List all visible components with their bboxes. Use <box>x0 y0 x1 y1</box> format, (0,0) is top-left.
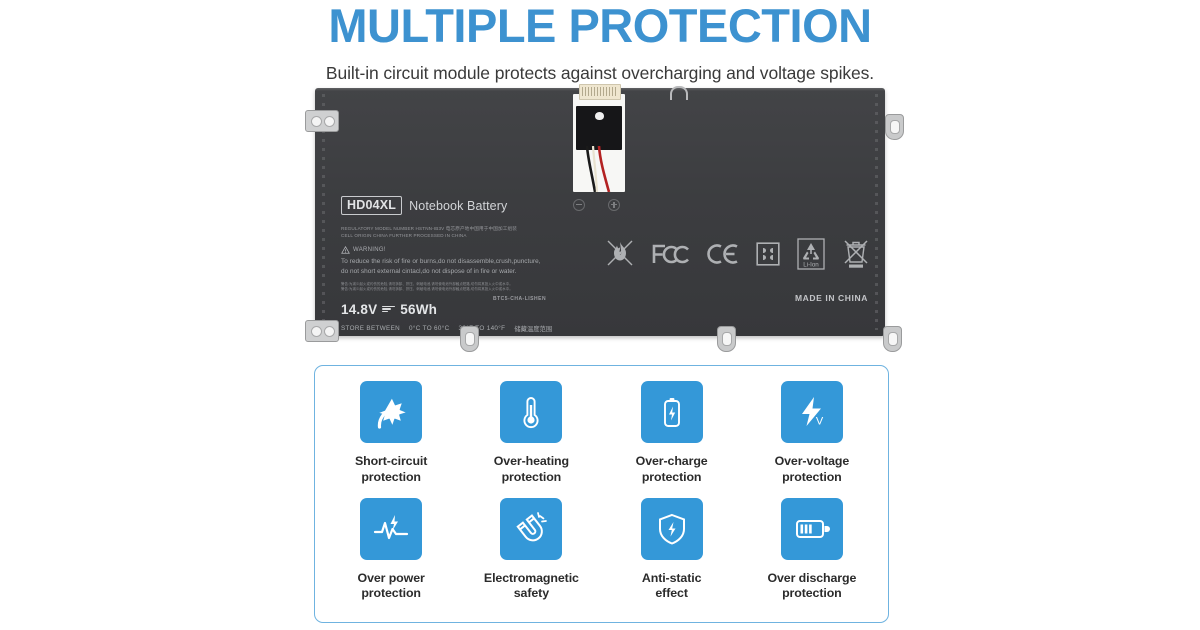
fcc-icon <box>652 242 690 266</box>
regulatory-line-2: CELL ORIGIN CHINA FURTHER PROCESSED IN C… <box>341 233 591 240</box>
battery-level-icon <box>792 510 832 548</box>
li-ion-label: Li-Ion <box>803 262 819 269</box>
regulatory-line-1: REGULATORY MODEL NUMBER HSTNN-IB3V 电芯原产地… <box>341 226 591 233</box>
battery-right-perforation <box>875 94 878 330</box>
feature-over-charge: Over-charge protection <box>602 381 742 498</box>
header: MULTIPLE PROTECTION Built-in circuit mod… <box>0 0 1200 84</box>
certification-marks: Li-Ion <box>605 238 870 270</box>
warning-chinese-block: 警告:为减少起火或灼伤的危险,请勿拆卸、挤压、刺破电池,请勿使电池外部触点短路,… <box>341 282 591 293</box>
module-wires <box>573 146 625 192</box>
protection-features-panel: Short-circuit protection Over-heating pr… <box>314 365 889 623</box>
battery-batch-code: BTC5-CHA-LISHEN <box>493 296 546 302</box>
shield-bolt-icon <box>653 510 691 548</box>
mounting-tab-top-right <box>885 114 904 140</box>
feature-over-power: Over power protection <box>321 498 461 615</box>
feature-short-circuit: Short-circuit protection <box>321 381 461 498</box>
battery-model-number: HD04XL <box>341 196 402 215</box>
feature-tile: V <box>781 381 843 443</box>
warning-triangle-icon <box>341 246 350 254</box>
feature-label: Anti-static effect <box>642 571 701 603</box>
warning-heading-row: WARNING! <box>341 246 591 254</box>
battery-bolt-icon <box>653 393 691 431</box>
module-chip-marking <box>595 112 604 120</box>
feature-label: Electromagnetic safety <box>484 571 579 603</box>
storage-label: STORE BETWEEN <box>341 325 400 332</box>
feature-tile <box>500 381 562 443</box>
feature-label: Over-heating protection <box>494 454 569 486</box>
china-rohs-icon <box>756 242 780 266</box>
warning-heading: WARNING! <box>353 247 386 253</box>
mounting-tab-bottom-2 <box>717 326 736 352</box>
feature-over-heating: Over-heating protection <box>461 381 601 498</box>
magnet-icon <box>512 510 550 548</box>
red-wire <box>599 146 609 192</box>
spark-burst-icon <box>372 393 410 431</box>
feature-over-voltage: V Over-voltage protection <box>742 381 882 498</box>
circuit-protection-module <box>573 84 625 192</box>
battery-product-name: Notebook Battery <box>409 199 507 213</box>
negative-terminal-icon <box>573 199 585 211</box>
mounting-tab-top-left <box>305 110 339 132</box>
volt-letter: V <box>816 416 824 428</box>
li-ion-recycle-icon: Li-Ion <box>797 238 825 270</box>
feature-label: Over-charge protection <box>636 454 708 486</box>
made-in-label: MADE IN CHINA <box>795 293 868 303</box>
storage-label-chinese: 储藏温度范围 <box>514 324 552 333</box>
feature-tile <box>781 498 843 560</box>
module-connector <box>579 84 621 100</box>
feature-label: Short-circuit protection <box>355 454 427 486</box>
feature-label: Over-voltage protection <box>775 454 850 486</box>
polarity-markers <box>573 199 620 211</box>
mounting-tab-bottom-left <box>305 320 339 342</box>
dc-current-icon <box>382 304 395 314</box>
thermometer-icon <box>512 393 550 431</box>
regulatory-text: REGULATORY MODEL NUMBER HSTNN-IB3V 电芯原产地… <box>341 226 591 240</box>
battery-capacity: 56Wh <box>400 302 437 317</box>
page-title: MULTIPLE PROTECTION <box>0 0 1200 49</box>
battery-product-image: HD04XL Notebook Battery REGULATORY MODEL… <box>305 88 895 356</box>
warning-chinese-line-2: 警告:为减少起火或灼伤的危险,请勿拆卸、挤压、刺破电池,请勿使电池外部触点短路,… <box>341 287 591 293</box>
feature-tile <box>641 498 703 560</box>
battery-model-row: HD04XL Notebook Battery <box>341 196 591 215</box>
lightning-volt-icon: V <box>793 393 831 431</box>
ce-icon <box>707 242 739 266</box>
battery-spec-row: 14.8V 56Wh <box>341 302 591 317</box>
warning-body: To reduce the risk of fire or burns,do n… <box>341 257 591 277</box>
warning-line-1: To reduce the risk of fire or burns,do n… <box>341 257 591 267</box>
feature-tile <box>641 381 703 443</box>
protection-features-grid: Short-circuit protection Over-heating pr… <box>315 366 888 622</box>
feature-tile <box>500 498 562 560</box>
positive-terminal-icon <box>608 199 620 211</box>
feature-tile <box>360 498 422 560</box>
feature-label: Over power protection <box>358 571 425 603</box>
warning-line-2: do not short external cintacl,do not dis… <box>341 267 591 277</box>
weee-crossed-bin-icon <box>842 238 870 270</box>
mounting-tab-bottom-1 <box>460 326 479 352</box>
mounting-tab-bottom-right <box>883 326 902 352</box>
feature-label: Over discharge protection <box>767 571 856 603</box>
feature-electromagnetic-safety: Electromagnetic safety <box>461 498 601 615</box>
battery-voltage: 14.8V <box>341 302 377 317</box>
battery-top-loop <box>670 86 688 100</box>
storage-celsius: 0°C TO 60°C <box>409 325 450 332</box>
feature-anti-static: Anti-static effect <box>602 498 742 615</box>
feature-tile <box>360 381 422 443</box>
battery-label: HD04XL Notebook Battery REGULATORY MODEL… <box>341 196 591 333</box>
module-chip <box>576 106 622 150</box>
waveform-bolt-icon <box>371 510 411 548</box>
page-subtitle: Built-in circuit module protects against… <box>0 49 1200 84</box>
feature-over-discharge: Over discharge protection <box>742 498 882 615</box>
no-fire-icon <box>605 238 635 270</box>
